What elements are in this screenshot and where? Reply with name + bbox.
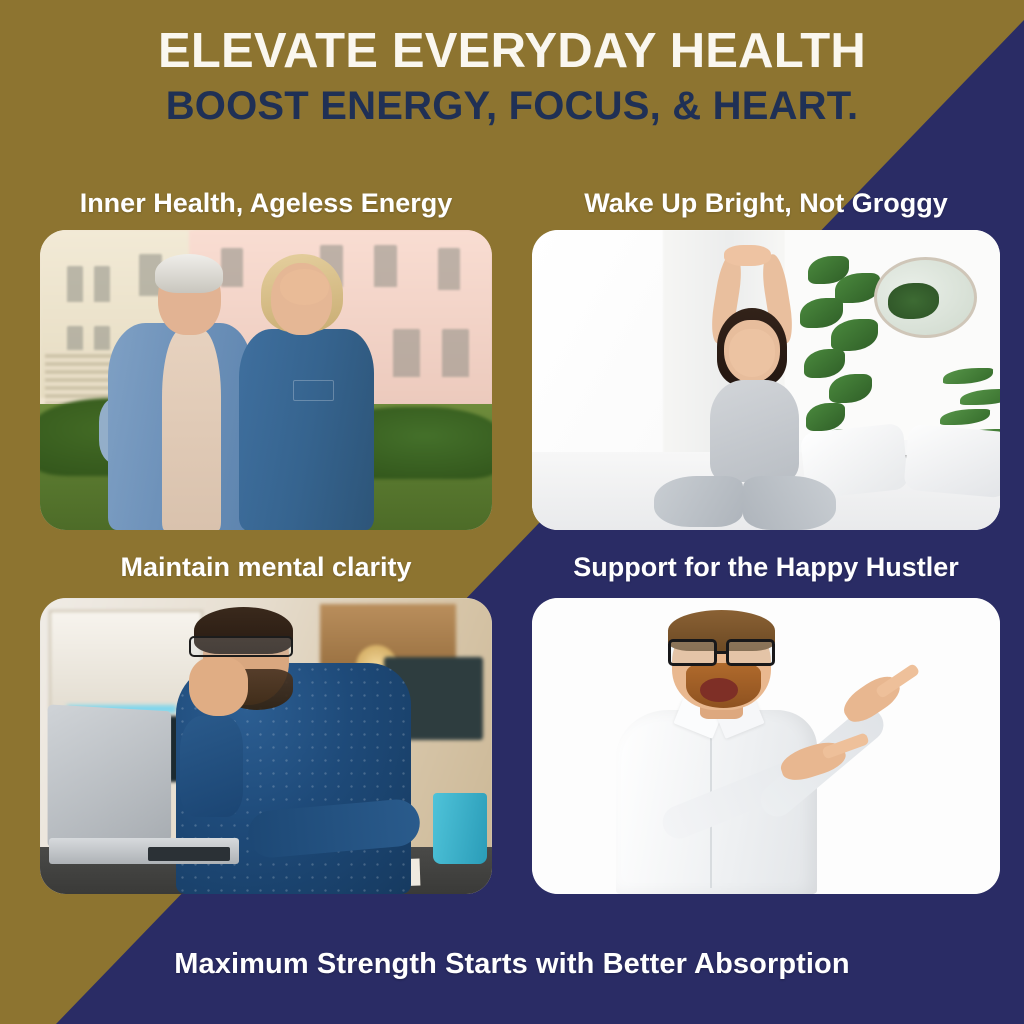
card-label-mental-clarity: Maintain mental clarity bbox=[40, 552, 492, 583]
photo-card-mental-clarity bbox=[40, 598, 492, 894]
photo-tired-man-laptop bbox=[40, 598, 492, 894]
photo-card-happy-hustler bbox=[532, 598, 1000, 894]
subheadline: BOOST ENERGY, FOCUS, & HEART. bbox=[0, 84, 1024, 129]
footer: Maximum Strength Starts with Better Abso… bbox=[0, 948, 1024, 981]
footer-tagline: Maximum Strength Starts with Better Abso… bbox=[0, 948, 1024, 981]
card-label-happy-hustler: Support for the Happy Hustler bbox=[532, 552, 1000, 583]
photo-excited-man-pointing bbox=[532, 598, 1000, 894]
headline: ELEVATE EVERYDAY HEALTH bbox=[0, 26, 1024, 78]
card-label-inner-health: Inner Health, Ageless Energy bbox=[40, 188, 492, 219]
photo-card-inner-health bbox=[40, 230, 492, 530]
card-label-wake-up-bright: Wake Up Bright, Not Groggy bbox=[532, 188, 1000, 219]
header: ELEVATE EVERYDAY HEALTH BOOST ENERGY, FO… bbox=[0, 0, 1024, 129]
photo-mature-couple bbox=[40, 230, 492, 530]
photo-woman-stretching bbox=[532, 230, 1000, 530]
photo-card-wake-up-bright bbox=[532, 230, 1000, 530]
